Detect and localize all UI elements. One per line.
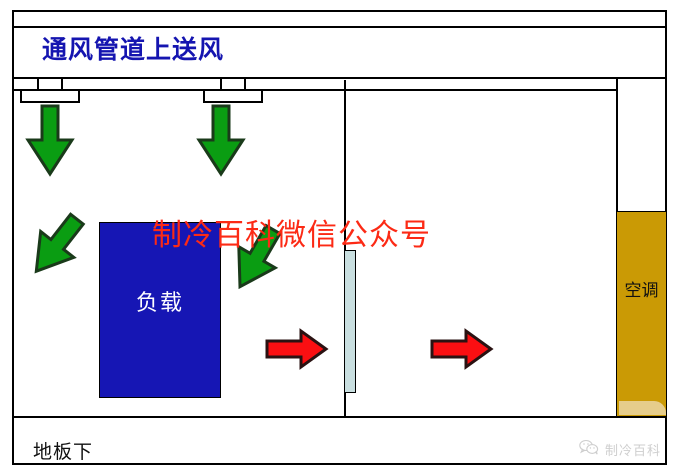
brand-watermark: 制冷百科	[579, 439, 661, 460]
diagram-title: 通风管道上送风	[42, 30, 224, 66]
ac-base-plinth	[619, 401, 666, 415]
diffuser-pan	[20, 91, 80, 103]
underfloor-label: 地板下	[33, 437, 93, 464]
ac-label: 空调	[617, 280, 666, 302]
brand-label: 制冷百科	[605, 440, 661, 459]
supply-arrow-diagonal-left	[26, 210, 86, 287]
wechat-icon	[579, 439, 599, 460]
supply-diffuser-right	[203, 79, 263, 103]
diffuser-neck	[37, 79, 63, 91]
supply-arrow-down-left	[22, 104, 78, 183]
air-conditioner-unit: 空调	[616, 211, 667, 417]
return-arrow-left	[265, 328, 329, 375]
ceiling-top-line	[12, 26, 667, 28]
diagram-canvas: 通风管道上送风 负载	[0, 0, 681, 474]
supply-diffuser-left	[20, 79, 80, 103]
partition-strip	[344, 250, 356, 393]
diffuser-neck	[220, 79, 246, 91]
return-arrow-right	[430, 328, 494, 375]
watermark-text: 制冷百科微信公众号	[152, 210, 431, 254]
load-label: 负载	[100, 285, 220, 317]
ceiling-slab-line	[12, 77, 667, 79]
supply-arrow-down-right	[193, 104, 249, 183]
diffuser-pan	[203, 91, 263, 103]
raised-floor-line	[14, 416, 667, 418]
duct-bottom-line	[12, 89, 618, 91]
